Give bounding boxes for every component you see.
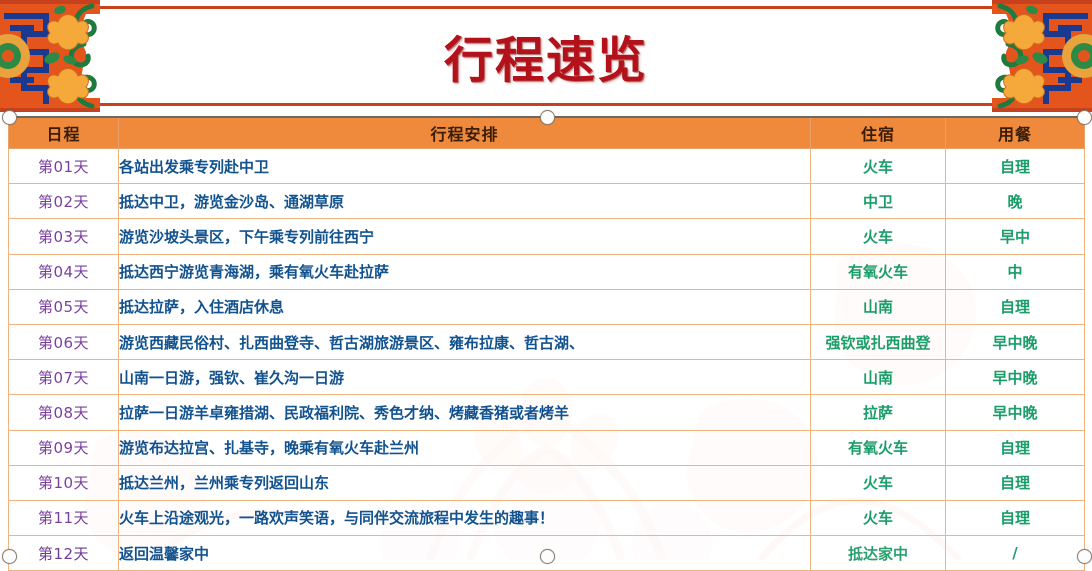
table-row[interactable]: 第03天游览沙坡头景区，下午乘专列前往西宁火车早中: [9, 219, 1085, 254]
cell-stay[interactable]: 山南: [811, 289, 946, 324]
cell-meal[interactable]: /: [946, 536, 1085, 571]
header-banner: 行程速览: [0, 0, 1092, 112]
cell-day[interactable]: 第03天: [9, 219, 119, 254]
cell-plan[interactable]: 抵达中卫，游览金沙岛、通湖草原: [119, 184, 811, 219]
table-body: 第01天各站出发乘专列赴中卫火车自理第02天抵达中卫，游览金沙岛、通湖草原中卫晚…: [9, 149, 1085, 571]
cell-plan[interactable]: 游览布达拉宫、扎基寺，晚乘有氧火车赴兰州: [119, 430, 811, 465]
table-row[interactable]: 第10天抵达兰州，兰州乘专列返回山东火车自理: [9, 465, 1085, 500]
cell-day[interactable]: 第04天: [9, 254, 119, 289]
cell-plan[interactable]: 抵达西宁游览青海湖，乘有氧火车赴拉萨: [119, 254, 811, 289]
table-row[interactable]: 第04天抵达西宁游览青海湖，乘有氧火车赴拉萨有氧火车中: [9, 254, 1085, 289]
cell-stay[interactable]: 拉萨: [811, 395, 946, 430]
cell-plan[interactable]: 拉萨一日游羊卓雍措湖、民政福利院、秀色才纳、烤藏香猪或者烤羊: [119, 395, 811, 430]
cell-day[interactable]: 第12天: [9, 536, 119, 571]
cell-meal[interactable]: 早中晚: [946, 360, 1085, 395]
handle-top-left[interactable]: [2, 110, 17, 125]
tibetan-ornament-left-icon: [0, 0, 100, 112]
cell-stay[interactable]: 抵达家中: [811, 536, 946, 571]
column-header-stay[interactable]: 住宿: [811, 117, 946, 149]
cell-day[interactable]: 第10天: [9, 465, 119, 500]
cell-day[interactable]: 第02天: [9, 184, 119, 219]
cell-day[interactable]: 第06天: [9, 324, 119, 359]
cell-stay[interactable]: 火车: [811, 219, 946, 254]
cell-stay[interactable]: 火车: [811, 500, 946, 535]
cell-stay[interactable]: 山南: [811, 360, 946, 395]
cell-stay[interactable]: 火车: [811, 465, 946, 500]
handle-top-right[interactable]: [1077, 110, 1092, 125]
cell-meal[interactable]: 自理: [946, 430, 1085, 465]
cell-meal[interactable]: 自理: [946, 289, 1085, 324]
handle-bottom-center[interactable]: [540, 549, 555, 564]
cell-stay[interactable]: 强钦或扎西曲登: [811, 324, 946, 359]
page-title: 行程速览: [0, 0, 1092, 112]
cell-stay[interactable]: 有氧火车: [811, 254, 946, 289]
cell-meal[interactable]: 自理: [946, 465, 1085, 500]
handle-top-center[interactable]: [540, 110, 555, 125]
cell-day[interactable]: 第07天: [9, 360, 119, 395]
column-header-day[interactable]: 日程: [9, 117, 119, 149]
cell-day[interactable]: 第08天: [9, 395, 119, 430]
handle-bottom-right[interactable]: [1077, 549, 1092, 564]
cell-plan[interactable]: 游览西藏民俗村、扎西曲登寺、哲古湖旅游景区、雍布拉康、哲古湖、: [119, 324, 811, 359]
cell-day[interactable]: 第09天: [9, 430, 119, 465]
table-row[interactable]: 第08天拉萨一日游羊卓雍措湖、民政福利院、秀色才纳、烤藏香猪或者烤羊拉萨早中晚: [9, 395, 1085, 430]
cell-meal[interactable]: 自理: [946, 149, 1085, 184]
cell-day[interactable]: 第01天: [9, 149, 119, 184]
cell-meal[interactable]: 早中: [946, 219, 1085, 254]
itinerary-table[interactable]: 日程 行程安排 住宿 用餐 第01天各站出发乘专列赴中卫火车自理第02天抵达中卫…: [8, 116, 1085, 571]
cell-stay[interactable]: 火车: [811, 149, 946, 184]
cell-day[interactable]: 第05天: [9, 289, 119, 324]
cell-plan[interactable]: 山南一日游，强钦、崔久沟一日游: [119, 360, 811, 395]
cell-day[interactable]: 第11天: [9, 500, 119, 535]
table-row[interactable]: 第05天抵达拉萨，入住酒店休息山南自理: [9, 289, 1085, 324]
cell-plan[interactable]: 抵达拉萨，入住酒店休息: [119, 289, 811, 324]
cell-meal[interactable]: 早中晚: [946, 324, 1085, 359]
table-row[interactable]: 第06天游览西藏民俗村、扎西曲登寺、哲古湖旅游景区、雍布拉康、哲古湖、强钦或扎西…: [9, 324, 1085, 359]
cell-stay[interactable]: 有氧火车: [811, 430, 946, 465]
handle-bottom-left[interactable]: [2, 549, 17, 564]
table-row[interactable]: 第01天各站出发乘专列赴中卫火车自理: [9, 149, 1085, 184]
table-row[interactable]: 第11天火车上沿途观光，一路欢声笑语，与同伴交流旅程中发生的趣事！火车自理: [9, 500, 1085, 535]
table-row[interactable]: 第02天抵达中卫，游览金沙岛、通湖草原中卫晚: [9, 184, 1085, 219]
cell-plan[interactable]: 游览沙坡头景区，下午乘专列前往西宁: [119, 219, 811, 254]
cell-plan[interactable]: 火车上沿途观光，一路欢声笑语，与同伴交流旅程中发生的趣事！: [119, 500, 811, 535]
table-row[interactable]: 第07天山南一日游，强钦、崔久沟一日游山南早中晚: [9, 360, 1085, 395]
table-row[interactable]: 第09天游览布达拉宫、扎基寺，晚乘有氧火车赴兰州有氧火车自理: [9, 430, 1085, 465]
column-header-meal[interactable]: 用餐: [946, 117, 1085, 149]
itinerary-table-container[interactable]: 日程 行程安排 住宿 用餐 第01天各站出发乘专列赴中卫火车自理第02天抵达中卫…: [8, 116, 1084, 556]
cell-stay[interactable]: 中卫: [811, 184, 946, 219]
cell-meal[interactable]: 早中晚: [946, 395, 1085, 430]
cell-meal[interactable]: 自理: [946, 500, 1085, 535]
column-header-plan[interactable]: 行程安排: [119, 117, 811, 149]
cell-meal[interactable]: 晚: [946, 184, 1085, 219]
tibetan-ornament-right-icon: [992, 0, 1092, 112]
cell-plan[interactable]: 抵达兰州，兰州乘专列返回山东: [119, 465, 811, 500]
cell-plan[interactable]: 各站出发乘专列赴中卫: [119, 149, 811, 184]
cell-plan[interactable]: 返回温馨家中: [119, 536, 811, 571]
cell-meal[interactable]: 中: [946, 254, 1085, 289]
